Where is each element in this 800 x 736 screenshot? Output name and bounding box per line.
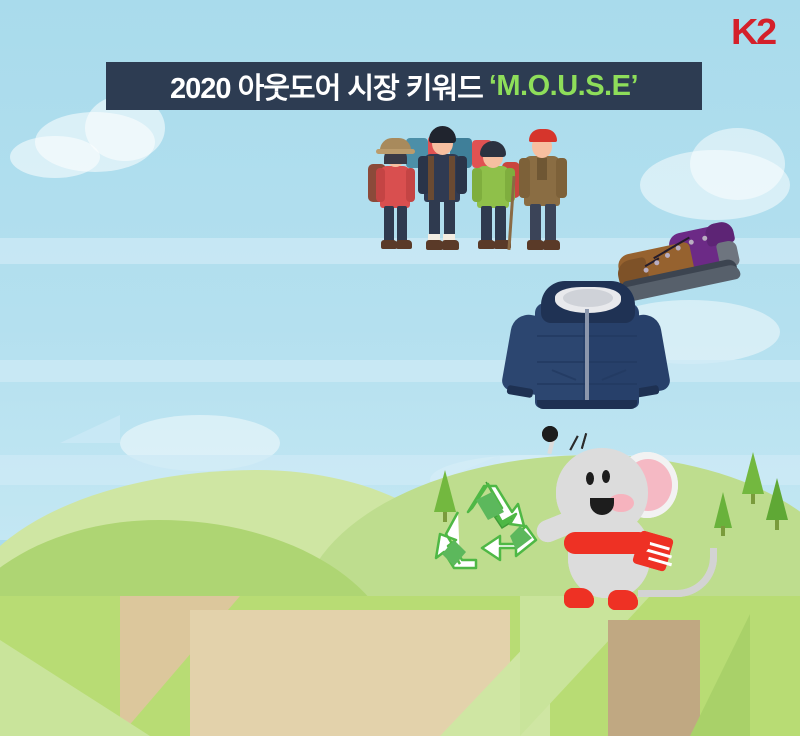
- pine-tree-icon: [742, 452, 764, 504]
- hiker-figure: [518, 126, 570, 252]
- background-scene: [0, 0, 800, 736]
- cloud-shape: [10, 136, 100, 178]
- page-title-main: 2020 아웃도어 시장 키워드: [170, 65, 483, 107]
- page-title-banner: 2020 아웃도어 시장 키워드 ‘M.O.U.S.E’: [106, 62, 702, 110]
- pine-tree-icon: [766, 478, 788, 530]
- infographic-canvas: K2 2020 아웃도어 시장 키워드 ‘M.O.U.S.E’: [0, 0, 800, 736]
- puffer-jacket-illustration: [505, 275, 670, 420]
- pine-tree-icon: [714, 492, 732, 536]
- mouse-mascot-overlay: [520, 432, 715, 614]
- haze-shard: [60, 415, 120, 443]
- k2-logo: K2: [731, 14, 775, 50]
- hikers-illustration: [372, 122, 562, 252]
- hiker-figure: [416, 124, 470, 252]
- cloud-shape: [690, 128, 785, 200]
- hiker-figure: [372, 134, 420, 252]
- ground-polygon: [0, 640, 150, 736]
- page-title-accent: ‘M.O.U.S.E’: [489, 70, 638, 103]
- ground-polygon: [608, 620, 700, 736]
- haze-band: [0, 360, 800, 382]
- ground-polygon: [690, 614, 750, 736]
